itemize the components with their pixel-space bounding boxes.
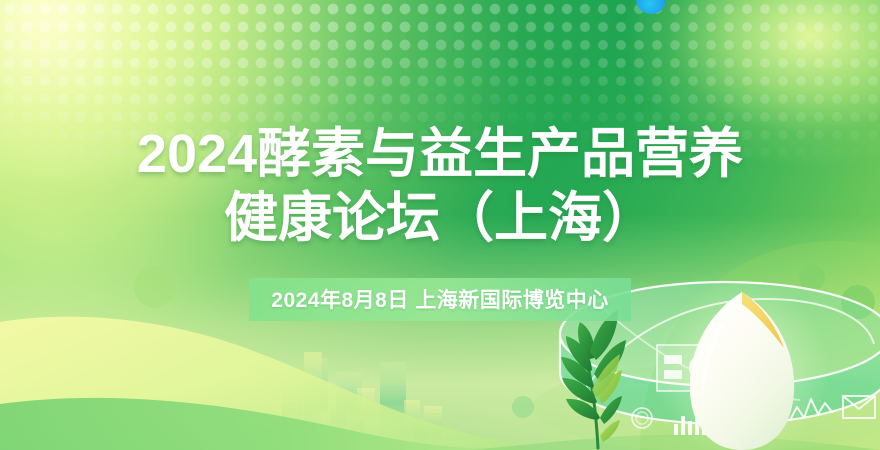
banner-title-group: 2024酵素与益生产品营养 健康论坛（上海） xyxy=(0,122,880,250)
banner-subtitle-group: 2024年8月8日 上海新国际博览中心 xyxy=(0,278,880,321)
bubble-mid-1 xyxy=(512,396,534,418)
title-line-2: 健康论坛（上海） xyxy=(0,186,880,250)
event-banner: 2024酵素与益生产品营养 健康论坛（上海） 2024年8月8日 上海新国际博览… xyxy=(0,0,880,450)
event-date-venue-badge: 2024年8月8日 上海新国际博览中心 xyxy=(249,278,630,321)
title-line-1: 2024酵素与益生产品营养 xyxy=(0,122,880,186)
